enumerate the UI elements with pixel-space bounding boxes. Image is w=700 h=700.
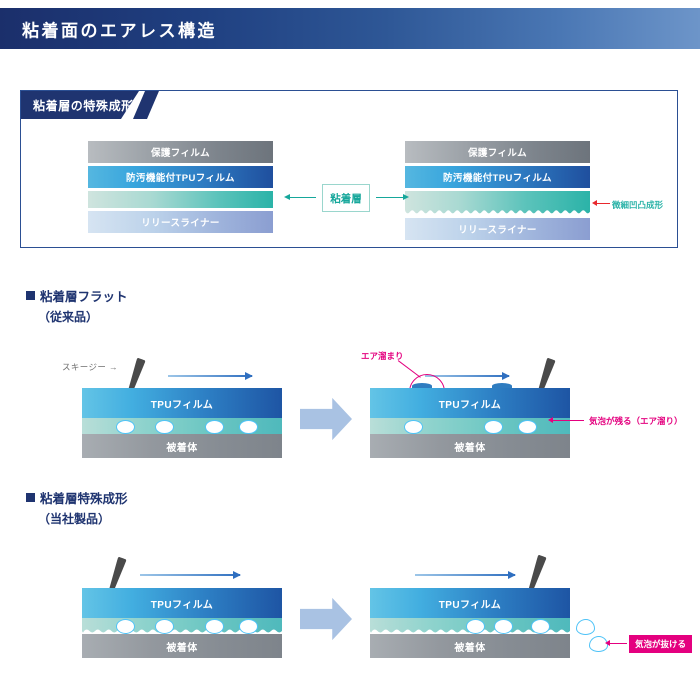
escaping-bubble [576,619,595,635]
substrate-layer: 被着体 [370,434,570,458]
motion-arrow-textured-right [415,574,515,576]
transition-arrow-textured [300,596,352,642]
substrate-layer: 被着体 [82,634,282,658]
tpu-film-layer: TPUフィルム [370,588,570,618]
air-bubble [494,619,513,634]
motion-arrow-flat-right [425,375,509,377]
air-bubble [116,420,135,434]
callout-arrow-right-line [376,197,404,198]
layer-stack-textured: 保護フィルム 防汚機能付TPUフィルム リリースライナー [405,141,590,243]
air-bubble [116,619,135,634]
callout-arrow-left-head [284,194,290,200]
air-bubble [484,420,503,434]
diagram-flat-before: TPUフィルム 被着体 [82,388,282,448]
layer-adhesive-flat [88,191,273,208]
squeegee-label-flat: スキージー → [62,361,118,373]
layer-adhesive-textured [405,191,590,215]
diagram-textured-before: TPUフィルム 被着体 [82,588,282,648]
tpu-film-layer: TPUフィルム [370,388,570,418]
section-textured-heading: 粘着層特殊成形 [26,488,128,507]
page-title: 粘着面のエアレス構造 [22,16,217,41]
air-bubble [155,420,174,434]
bubble-escape-annotation: 気泡が抜ける [629,635,692,653]
layer-release-liner: リリースライナー [88,211,273,233]
section-textured-subheading: （当社製品） [38,510,110,527]
panel-tab-slash-decoration [133,91,159,119]
layer-antifouling-tpu-film: 防汚機能付TPUフィルム [405,166,590,188]
transition-arrow-flat [300,396,352,442]
panel-tab-label: 粘着層の特殊成形 [21,91,151,119]
motion-arrow-flat-left [168,375,252,377]
layer-protective-film: 保護フィルム [405,141,590,163]
air-bubble [155,619,174,634]
air-bubble [239,420,258,434]
substrate-layer: 被着体 [370,634,570,658]
adhesive-layer-callout: 粘着層 [322,184,370,212]
layer-protective-film: 保護フィルム [88,141,273,163]
bubble-remains-annotation: 気泡が残る（エア溜り） [589,415,683,427]
air-bubble [205,420,224,434]
square-bullet-icon [26,493,35,502]
diagram-textured-after: TPUフィルム 被着体 [370,588,570,648]
air-bubble [466,619,485,634]
section-flat-heading: 粘着層フラット [26,286,128,305]
substrate-layer: 被着体 [82,434,282,458]
section-flat-subheading: （従来品） [38,308,98,325]
air-bubble [404,420,423,434]
tpu-film-layer: TPUフィルム [82,588,282,618]
air-bubble [531,619,550,634]
page-header: 粘着面のエアレス構造 [0,8,700,49]
micro-texture-arrow [596,203,610,204]
air-bubble [239,619,258,634]
diagram-flat-after: TPUフィルム 被着体 [370,388,570,448]
bubble-remains-arrow [552,420,584,421]
micro-texture-annotation: 微細凹凸成形 [612,199,663,211]
bubble-escape-arrow [609,643,627,644]
layer-antifouling-tpu-film: 防汚機能付TPUフィルム [88,166,273,188]
adhesive-layer-flat [370,418,570,434]
layer-stack-flat: 保護フィルム 防汚機能付TPUフィルム リリースライナー [88,141,273,236]
air-bubble [205,619,224,634]
motion-arrow-textured-left [140,574,240,576]
callout-arrow-left-line [288,197,316,198]
section-flat-heading-text: 粘着層フラット [40,290,128,304]
layer-release-liner: リリースライナー [405,218,590,240]
callout-arrow-right-head [403,194,409,200]
tpu-film-layer: TPUフィルム [82,388,282,418]
air-bubble [518,420,537,434]
section-textured-heading-text: 粘着層特殊成形 [40,492,128,506]
square-bullet-icon [26,291,35,300]
